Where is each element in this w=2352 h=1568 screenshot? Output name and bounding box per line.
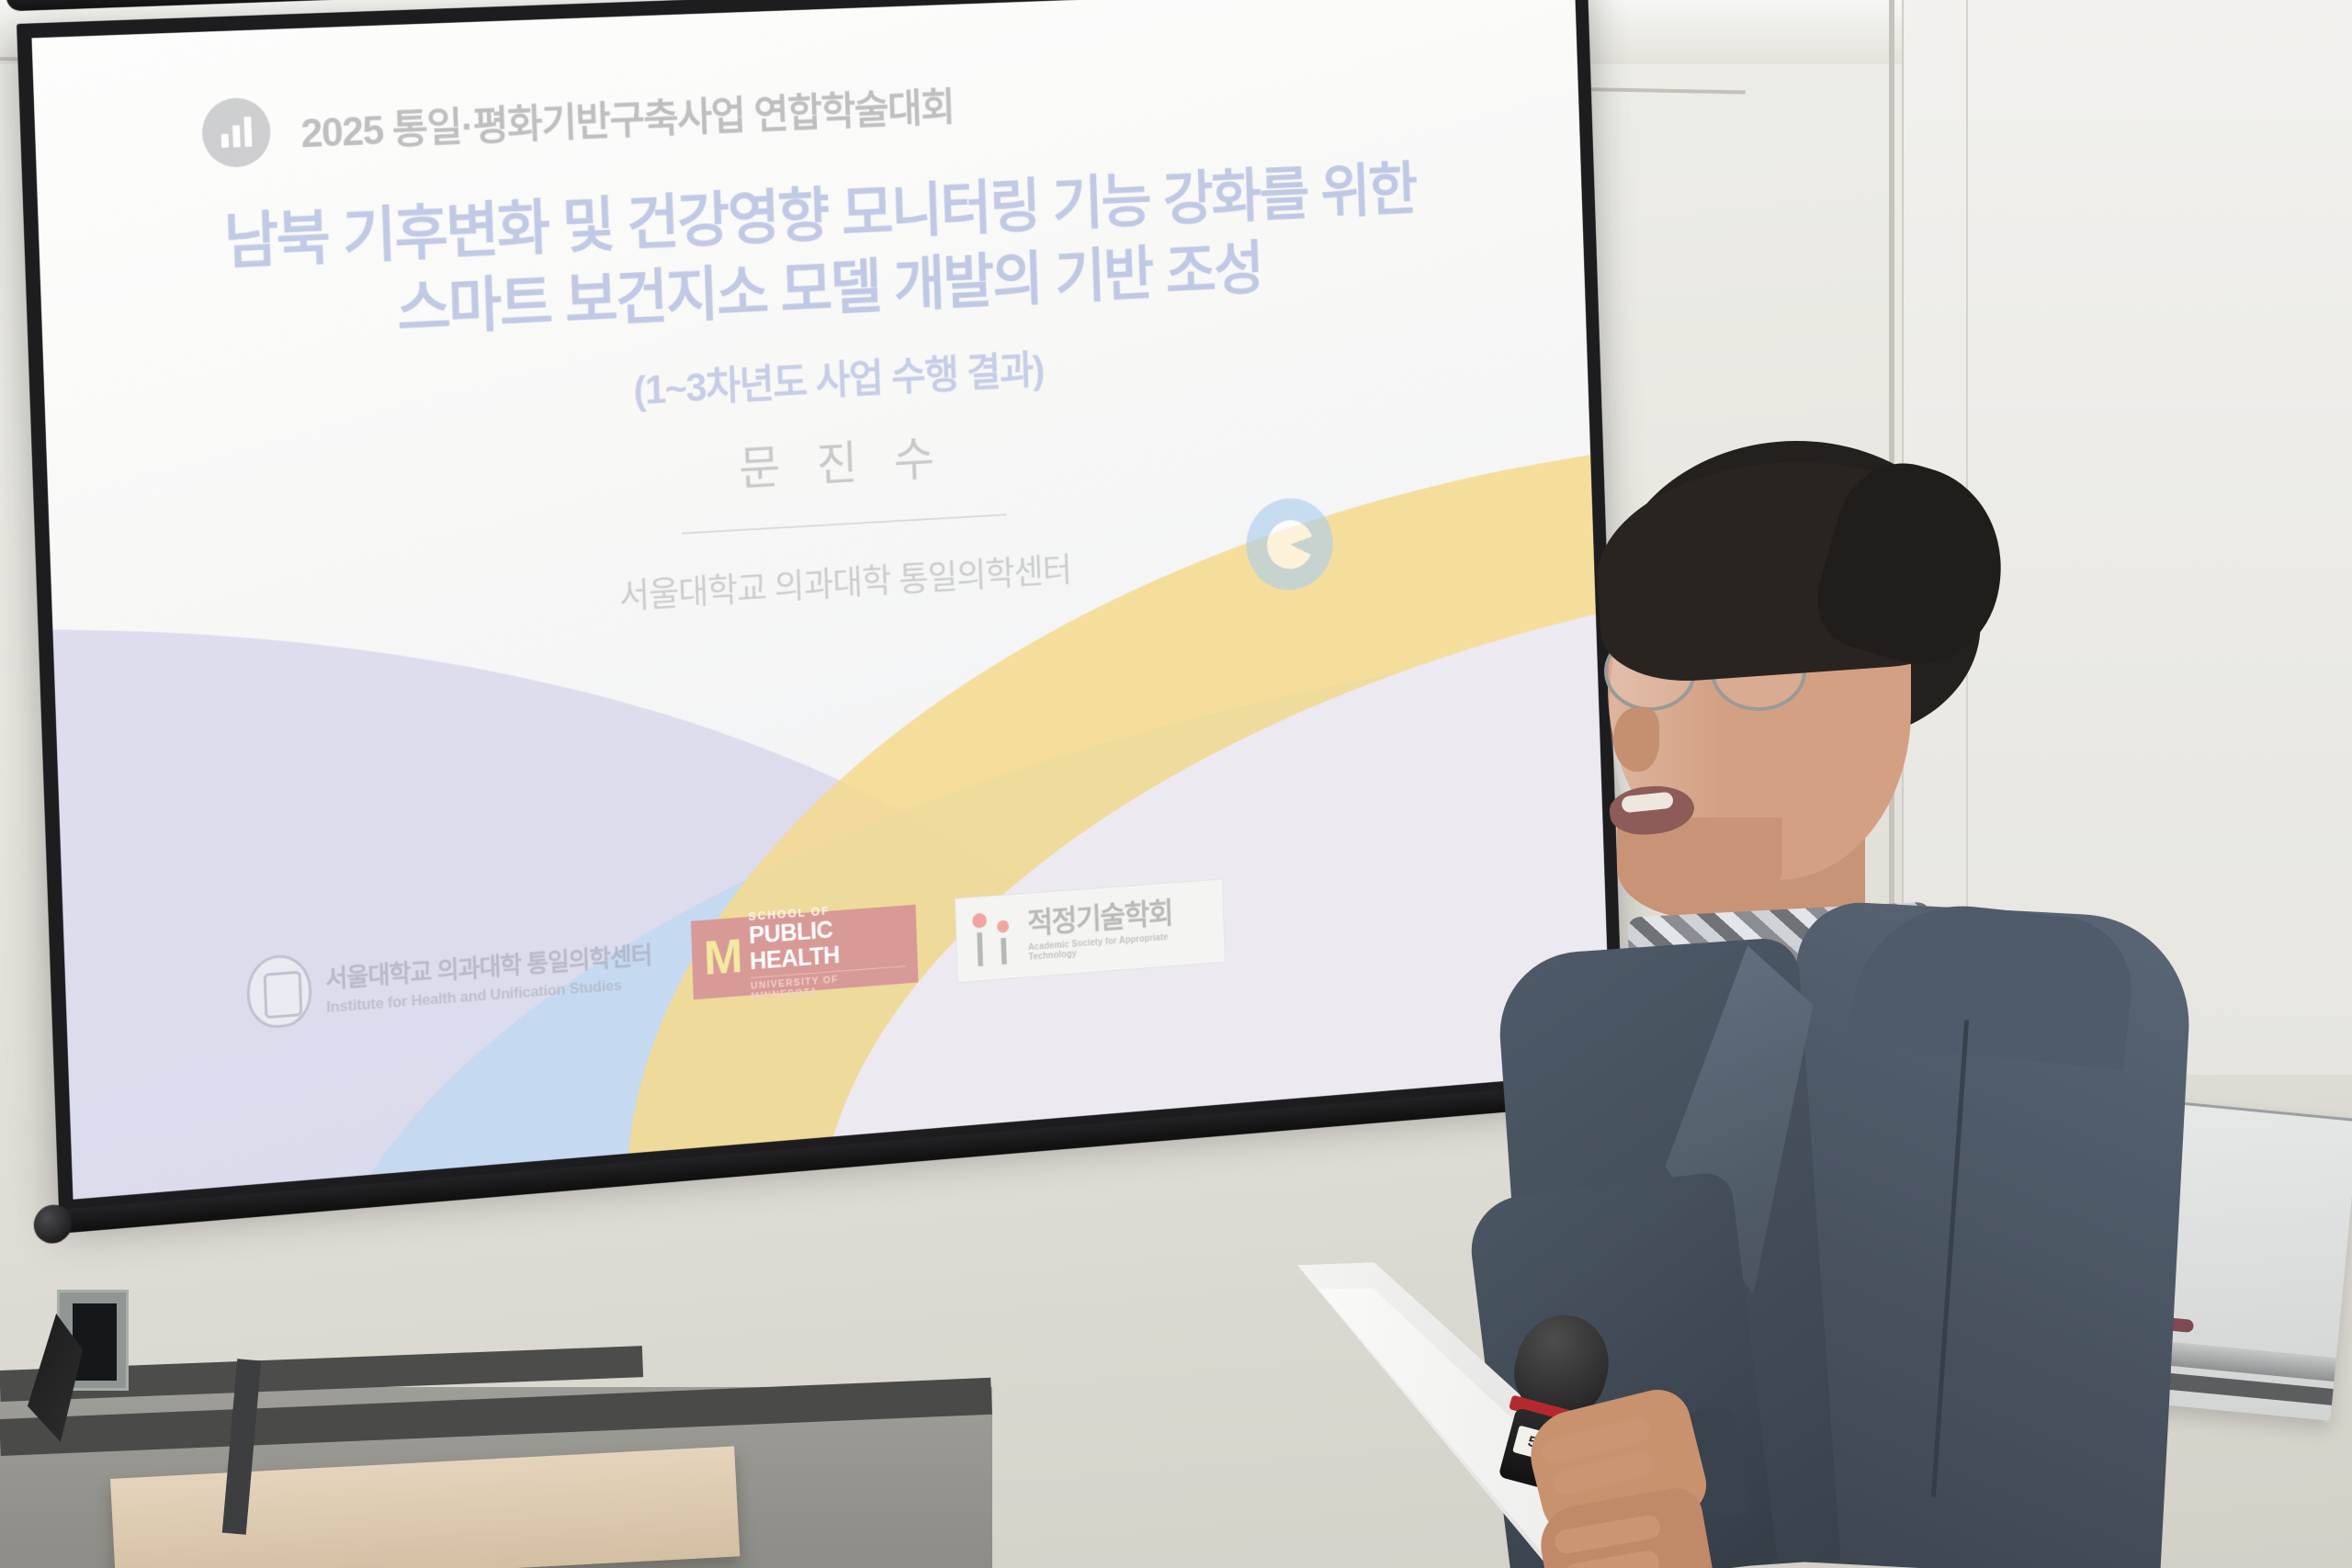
- slide-event-header: 2025 통일·평화기반구축사업 연합학술대회: [201, 70, 955, 168]
- presentation-photo-scene: 2025 통일·평화기반구축사업 연합학술대회 남북 기후변화 및 건강영향 모…: [0, 0, 2352, 1568]
- logo-umn-sph: M SCHOOL OF PUBLIC HEALTH UNIVERSITY OF …: [691, 905, 919, 999]
- umn-public-health-label: PUBLIC HEALTH: [749, 912, 906, 974]
- presenter-person: 517: [1553, 432, 2251, 1568]
- two-people-icon: [966, 908, 1020, 967]
- bar-chart-icon: [201, 96, 272, 168]
- umn-m-mark: M: [703, 938, 740, 979]
- projected-slide: 2025 통일·평화기반구축사업 연합학술대회 남북 기후변화 및 건강영향 모…: [31, 0, 1611, 1200]
- snu-crest-icon: [245, 953, 312, 1030]
- event-title: 2025 통일·평화기반구축사업 연합학술대회: [300, 75, 955, 159]
- presenter-divider: [682, 513, 1007, 534]
- nose: [1613, 707, 1659, 772]
- projection-screen: 2025 통일·평화기반구축사업 연합학술대회 남북 기후변화 및 건강영향 모…: [17, 0, 1624, 1215]
